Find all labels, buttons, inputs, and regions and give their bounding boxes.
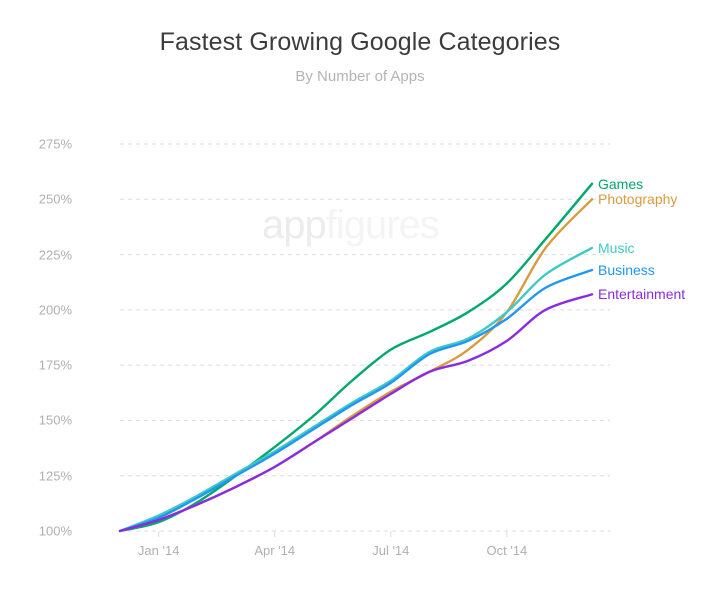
legend-label-business[interactable]: Business <box>598 262 655 278</box>
legend-label-photography[interactable]: Photography <box>598 191 677 207</box>
y-axis-tick-label: 250% <box>14 192 72 207</box>
y-axis-tick-label: 200% <box>14 302 72 317</box>
x-axis-tick-label: Apr '14 <box>230 543 320 558</box>
y-axis-tick-label: 275% <box>14 137 72 152</box>
chart-container: Fastest Growing Google Categories By Num… <box>0 0 720 600</box>
y-axis-tick-label: 225% <box>14 247 72 262</box>
x-axis-tick-label: Oct '14 <box>462 543 552 558</box>
y-axis-tick-label: 100% <box>14 524 72 539</box>
legend-label-entertainment[interactable]: Entertainment <box>598 286 685 302</box>
y-axis-tick-label: 125% <box>14 468 72 483</box>
series-line-games[interactable] <box>120 184 592 531</box>
y-axis-tick-label: 175% <box>14 358 72 373</box>
y-axis-tick-label: 150% <box>14 413 72 428</box>
legend-label-games[interactable]: Games <box>598 176 643 192</box>
legend-label-music[interactable]: Music <box>598 240 635 256</box>
x-axis-tick-label: Jan '14 <box>114 543 204 558</box>
x-axis-tick-label: Jul '14 <box>346 543 436 558</box>
